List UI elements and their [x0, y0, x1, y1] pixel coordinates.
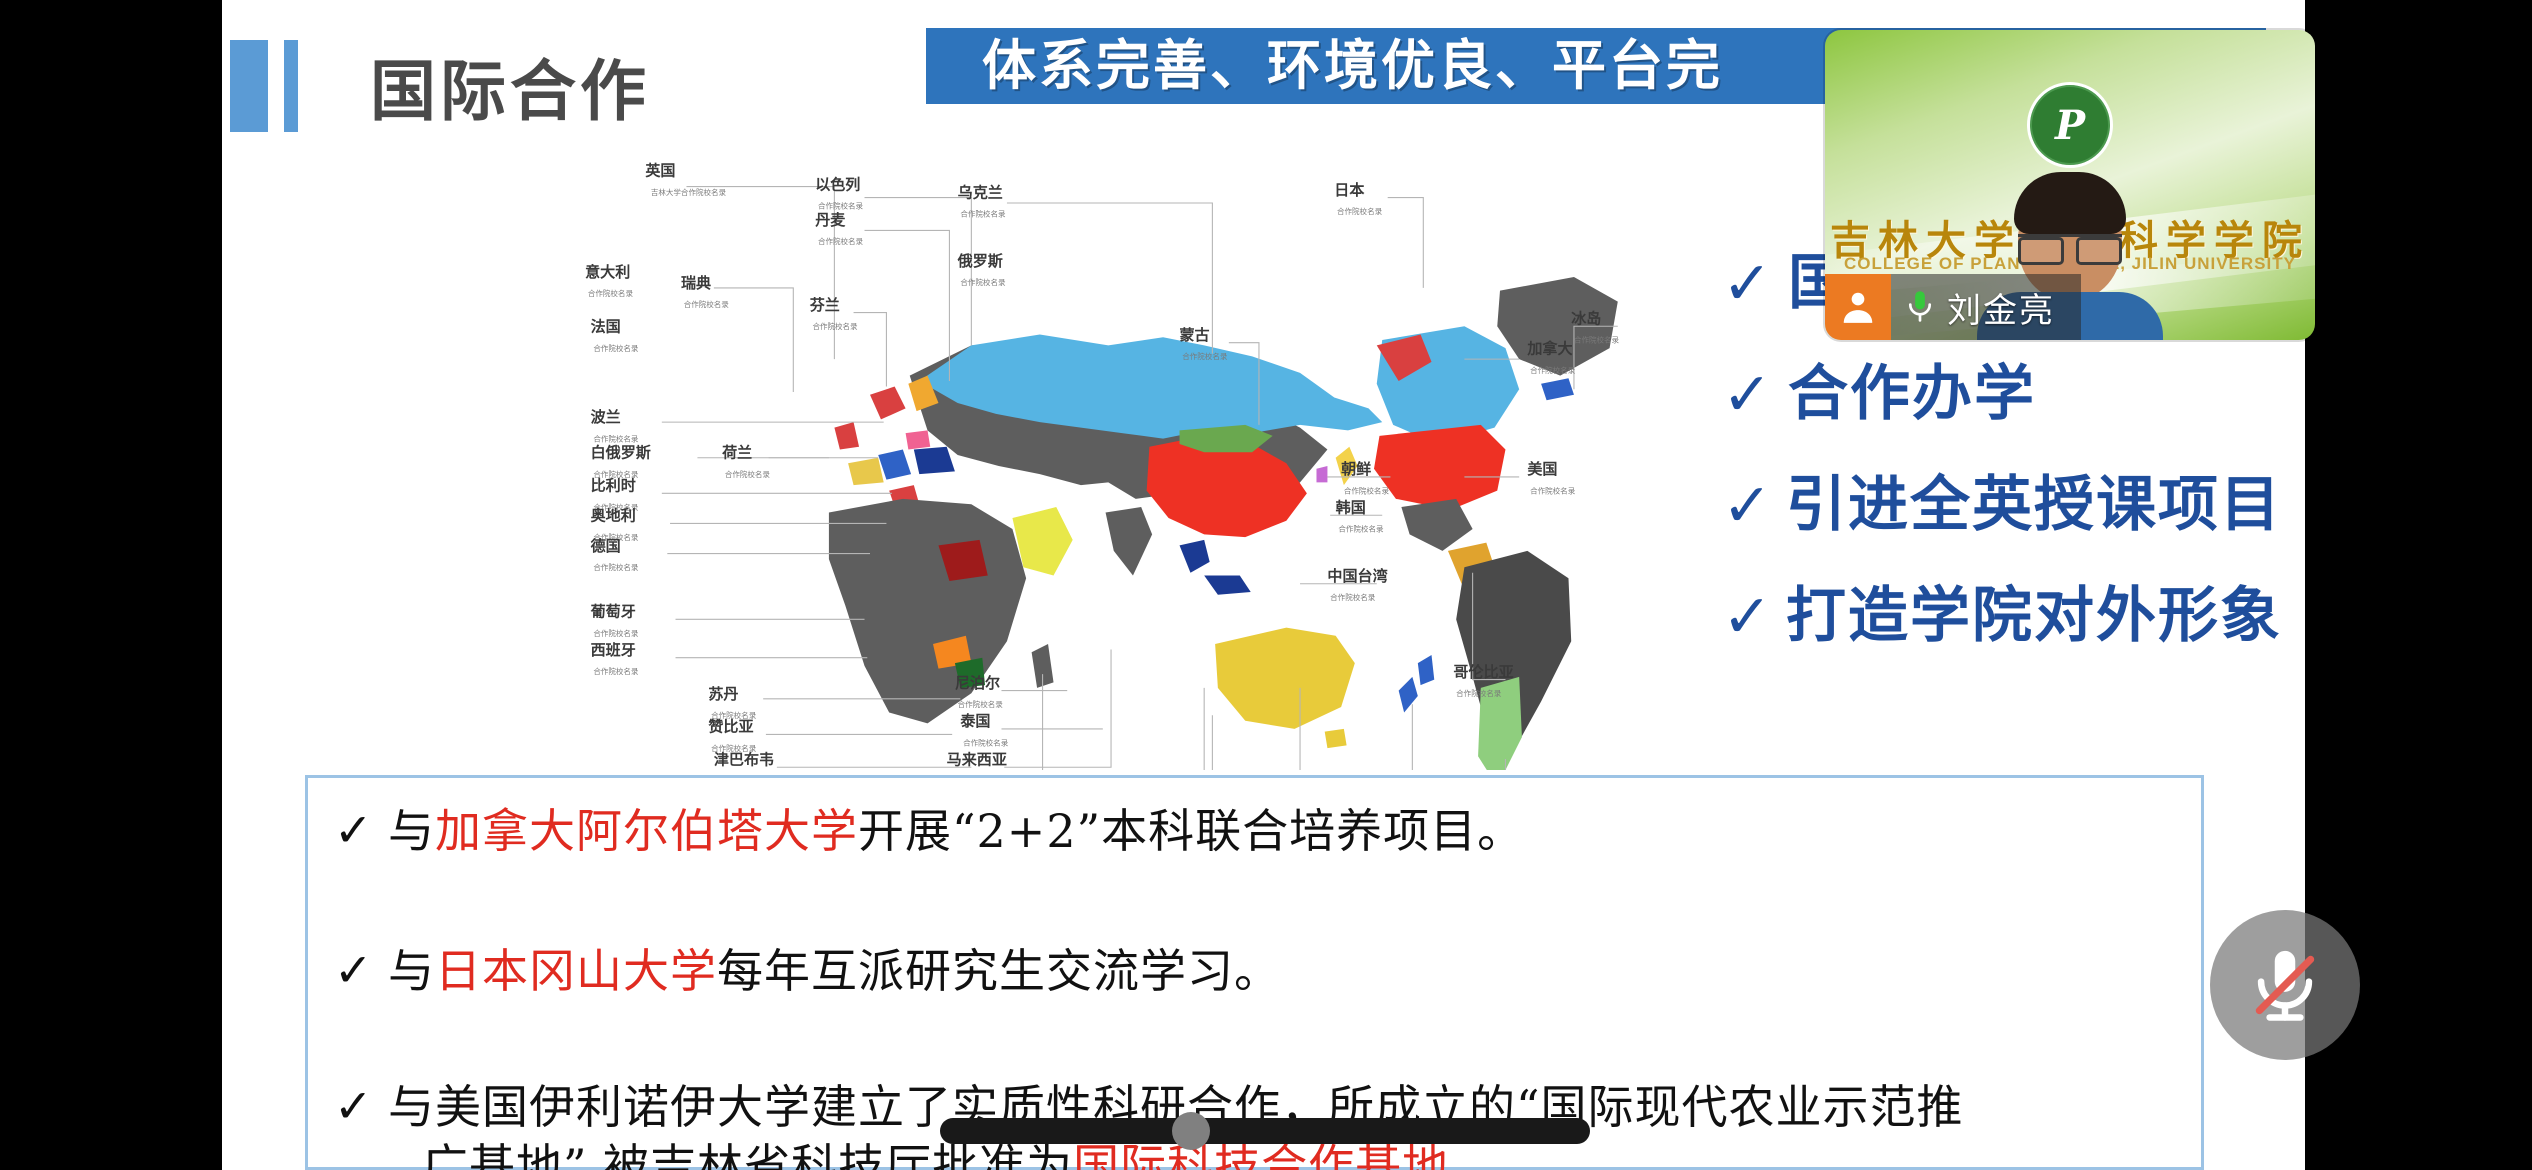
svg-text:日本: 日本 — [1334, 181, 1365, 199]
checklist-item-label: 合作办学 — [1788, 363, 2036, 426]
person-icon — [1839, 288, 1877, 326]
svg-text:合作院校名录: 合作院校名录 — [1338, 524, 1384, 534]
college-logo-icon: P — [2027, 82, 2113, 168]
svg-text:合作院校名录: 合作院校名录 — [588, 288, 634, 298]
svg-text:合作院校名录: 合作院校名录 — [960, 209, 1006, 219]
svg-text:合作院校名录: 合作院校名录 — [1337, 206, 1383, 216]
check-icon: ✓ — [334, 802, 388, 860]
title-accent-bar-thin — [284, 40, 298, 132]
svg-text:合作院校名录: 合作院校名录 — [963, 737, 1009, 747]
partnership-item-text: 与加拿大阿尔伯塔大学开展“2+2”本科联合培养项目。 — [388, 802, 1524, 862]
svg-text:美国: 美国 — [1527, 460, 1557, 478]
partnership-item-text: 与日本冈山大学每年互派研究生交流学习。 — [388, 942, 1281, 1002]
svg-text:津巴布韦: 津巴布韦 — [714, 751, 774, 769]
text-tail: 开展“2+2”本科联合培养项目。 — [858, 804, 1524, 858]
svg-text:合作院校名录: 合作院校名录 — [1456, 688, 1502, 698]
svg-text:尼泊尔: 尼泊尔 — [955, 674, 1000, 692]
check-icon: ✓ — [334, 1078, 388, 1136]
glasses-icon — [2018, 234, 2122, 256]
svg-text:合作院校名录: 合作院校名录 — [812, 321, 858, 331]
participant-name-chip: 刘金亮 — [1891, 274, 2081, 340]
svg-text:俄罗斯: 俄罗斯 — [957, 252, 1003, 270]
svg-text:比利时: 比利时 — [591, 477, 636, 495]
svg-text:以色列: 以色列 — [815, 175, 860, 193]
text-lead: 与 — [388, 944, 435, 998]
svg-text:蒙古: 蒙古 — [1180, 326, 1210, 344]
svg-text:合作院校名录: 合作院校名录 — [818, 200, 864, 210]
partnership-item-0: ✓ 与加拿大阿尔伯塔大学开展“2+2”本科联合培养项目。 — [308, 802, 2201, 862]
svg-text:合作院校名录: 合作院校名录 — [593, 628, 639, 638]
svg-text:波兰: 波兰 — [591, 408, 621, 426]
checklist-item-label: 引进全英授课项目 — [1786, 474, 2282, 537]
svg-text:合作院校名录: 合作院校名录 — [593, 666, 639, 676]
check-icon: ✓ — [1722, 476, 1786, 536]
world-map-image: 英国 吉林大学合作院校名录 以色列 合作院校名录 丹麦 合作院校名录 乌克兰 合… — [552, 140, 1692, 770]
checklist-item-label: 打造学院对外形象 — [1786, 585, 2282, 648]
participant-nameplate: 刘金亮 — [1825, 274, 2081, 340]
svg-text:合作院校名录: 合作院校名录 — [1530, 485, 1576, 495]
svg-text:中国台湾: 中国台湾 — [1327, 567, 1387, 585]
svg-text:英国: 英国 — [645, 162, 675, 180]
text-highlight: 日本冈山大学 — [435, 944, 717, 998]
seek-handle[interactable] — [1172, 1112, 1210, 1150]
svg-text:合作院校名录: 合作院校名录 — [593, 433, 639, 443]
video-letterbox: 国际合作 体系完善、环境优良、平台完 — [0, 0, 2532, 1170]
checklist-item-3: ✓ 打造学院对外形象 — [1722, 585, 2282, 648]
mute-button[interactable] — [2210, 910, 2360, 1060]
svg-text:合作院校名录: 合作院校名录 — [1330, 592, 1376, 602]
svg-text:白俄罗斯: 白俄罗斯 — [591, 444, 651, 462]
svg-text:合作院校名录: 合作院校名录 — [958, 699, 1004, 709]
svg-text:赞比亚: 赞比亚 — [707, 718, 753, 736]
partnership-textbox: ✓ 与加拿大阿尔伯塔大学开展“2+2”本科联合培养项目。 ✓ 与日本冈山大学每年… — [305, 775, 2204, 1170]
svg-text:乌克兰: 乌克兰 — [958, 184, 1003, 202]
hair — [2014, 172, 2126, 234]
svg-text:法国: 法国 — [591, 318, 621, 336]
svg-text:合作院校名录: 合作院校名录 — [1530, 365, 1576, 375]
svg-text:合作院校名录: 合作院校名录 — [593, 562, 639, 572]
svg-text:德国: 德国 — [590, 537, 621, 555]
svg-text:加拿大: 加拿大 — [1526, 340, 1572, 358]
microphone-on-icon — [1905, 290, 1935, 324]
svg-text:意大利: 意大利 — [585, 263, 630, 281]
svg-text:荷兰: 荷兰 — [722, 444, 752, 462]
text-lead: 与 — [388, 804, 435, 858]
check-icon: ✓ — [1722, 587, 1786, 647]
participant-video-tile[interactable]: P 吉林大学植物科学学院 COLLEGE OF PLANT SCIENCE, J… — [1825, 30, 2315, 340]
svg-text:合作院校名录: 合作院校名录 — [1182, 351, 1228, 361]
svg-text:葡萄牙: 葡萄牙 — [590, 603, 636, 621]
checklist-item-2: ✓ 引进全英授课项目 — [1722, 474, 2282, 537]
svg-text:西班牙: 西班牙 — [591, 641, 636, 659]
svg-text:合作院校名录: 合作院校名录 — [593, 343, 639, 353]
svg-text:芬兰: 芬兰 — [809, 296, 840, 314]
microphone-muted-icon — [2244, 944, 2326, 1026]
check-icon: ✓ — [334, 942, 388, 1000]
svg-text:瑞典: 瑞典 — [681, 274, 711, 292]
check-icon: ✓ — [1722, 365, 1788, 425]
svg-text:丹麦: 丹麦 — [815, 211, 846, 229]
svg-text:合作院校名录: 合作院校名录 — [818, 236, 864, 246]
participant-name: 刘金亮 — [1947, 283, 2055, 332]
partnership-item-1: ✓ 与日本冈山大学每年互派研究生交流学习。 — [308, 942, 2201, 1002]
text-highlight: 加拿大阿尔伯塔大学 — [435, 804, 858, 858]
svg-text:马来西亚: 马来西亚 — [947, 751, 1007, 769]
svg-text:朝鲜: 朝鲜 — [1341, 460, 1371, 478]
check-icon: ✓ — [1722, 254, 1788, 314]
svg-text:合作院校名录: 合作院校名录 — [1344, 485, 1390, 495]
svg-text:奥地利: 奥地利 — [591, 507, 636, 525]
svg-text:冰岛: 冰岛 — [1571, 310, 1601, 328]
svg-text:合作院校名录: 合作院校名录 — [684, 299, 730, 309]
svg-text:合作院校名录: 合作院校名录 — [725, 469, 771, 479]
svg-text:吉林大学合作院校名录: 吉林大学合作院校名录 — [651, 187, 727, 197]
svg-text:苏丹: 苏丹 — [708, 685, 738, 703]
svg-text:韩国: 韩国 — [1336, 499, 1366, 517]
text-tail: 每年互派研究生交流学习。 — [717, 944, 1281, 998]
title-accent-bar-wide — [230, 40, 268, 132]
checklist-item-1: ✓ 合作办学 — [1722, 363, 2282, 426]
svg-text:合作院校名录: 合作院校名录 — [1574, 335, 1620, 345]
avatar — [1825, 274, 1891, 340]
svg-text:哥伦比亚: 哥伦比亚 — [1453, 663, 1513, 681]
slide-title: 国际合作 — [370, 38, 650, 134]
svg-text:泰国: 泰国 — [959, 712, 990, 730]
svg-text:合作院校名录: 合作院校名录 — [960, 277, 1006, 287]
seek-bar[interactable] — [940, 1118, 1590, 1144]
